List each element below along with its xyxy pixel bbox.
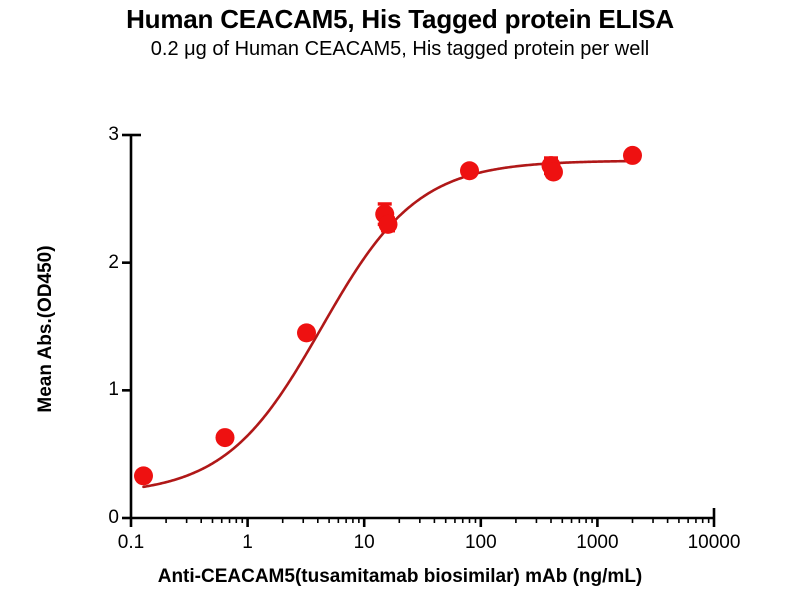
data-point-marker: [379, 215, 398, 234]
data-point-marker: [216, 428, 235, 447]
y-tick-label: 2: [89, 252, 119, 274]
x-tick-label: 1: [242, 532, 253, 554]
data-point-marker: [297, 323, 316, 342]
x-tick-label: 10: [354, 532, 375, 554]
error-bars: [218, 158, 560, 440]
y-tick-label: 3: [89, 124, 119, 146]
data-point-marker: [623, 146, 642, 165]
data-point-marker: [544, 163, 563, 182]
plot-area: [0, 0, 800, 600]
x-tick-label: 1000: [576, 532, 618, 554]
x-tick-label: 100: [465, 532, 497, 554]
y-tick-label: 0: [89, 507, 119, 529]
y-tick-label: 1: [89, 379, 119, 401]
elisa-chart-figure: Human CEACAM5, His Tagged protein ELISA …: [0, 0, 800, 600]
data-point-marker: [460, 161, 479, 180]
data-point-marker: [134, 466, 153, 485]
data-points: [134, 146, 642, 485]
y-axis-title: Mean Abs.(OD450): [35, 179, 57, 479]
x-tick-label: 10000: [688, 532, 741, 554]
x-axis-title: Anti-CEACAM5(tusamitamab biosimilar) mAb…: [0, 566, 800, 588]
x-tick-label: 0.1: [118, 532, 144, 554]
